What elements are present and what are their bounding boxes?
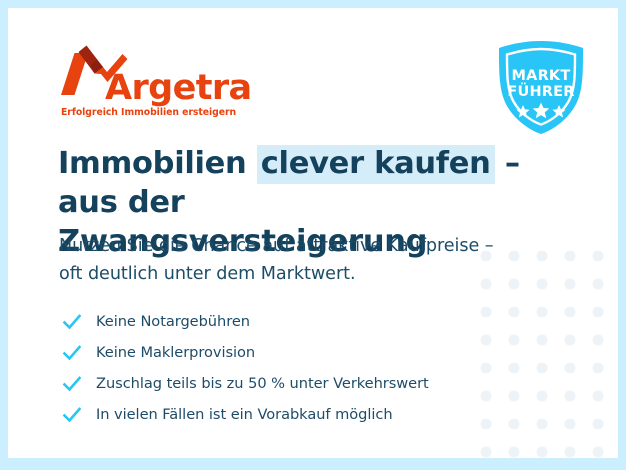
argetra-logo[interactable]: Argetra Erfolgreich Immobilien ersteiger… xyxy=(58,45,258,117)
star-icon xyxy=(516,105,529,118)
list-item-label: Keine Maklerprovision xyxy=(96,344,255,361)
headline-line1-before: Immobilien xyxy=(58,146,257,181)
check-icon xyxy=(61,404,83,426)
list-item: In vielen Fällen ist ein Vorabkauf mögli… xyxy=(60,399,520,430)
subheading-line2: oft deutlich unter dem Marktwert. xyxy=(59,264,356,284)
headline-line1-after: – xyxy=(495,146,520,181)
logo-tagline: Erfolgreich Immobilien ersteigern xyxy=(61,107,236,118)
benefits-checklist: Keine Notargebühren Keine Maklerprovisio… xyxy=(60,306,520,430)
subheading-line1: Nutzen Sie die Chance auf attraktive Kau… xyxy=(59,236,494,256)
check-icon xyxy=(61,342,83,364)
market-leader-badge: MARKT FÜHRER xyxy=(495,40,587,135)
logo-wordmark: Argetra xyxy=(105,71,252,106)
list-item-label: In vielen Fällen ist ein Vorabkauf mögli… xyxy=(96,406,393,423)
badge-line-1: MARKT xyxy=(495,68,587,84)
list-item-label: Keine Notargebühren xyxy=(96,313,250,330)
list-item-label: Zuschlag teils bis zu 50 % unter Verkehr… xyxy=(96,375,429,392)
star-icon xyxy=(533,103,550,119)
list-item: Keine Notargebühren xyxy=(60,306,520,337)
subheading: Nutzen Sie die Chance auf attraktive Kau… xyxy=(59,232,559,288)
check-icon xyxy=(61,373,83,395)
headline-highlight: clever kaufen xyxy=(257,145,495,184)
list-item: Zuschlag teils bis zu 50 % unter Verkehr… xyxy=(60,368,520,399)
promotional-banner: Argetra Erfolgreich Immobilien ersteiger… xyxy=(8,8,618,458)
badge-line-2: FÜHRER xyxy=(495,84,587,100)
star-icon xyxy=(552,105,565,118)
badge-stars xyxy=(495,102,587,125)
check-icon xyxy=(61,311,83,333)
list-item: Keine Maklerprovision xyxy=(60,337,520,368)
